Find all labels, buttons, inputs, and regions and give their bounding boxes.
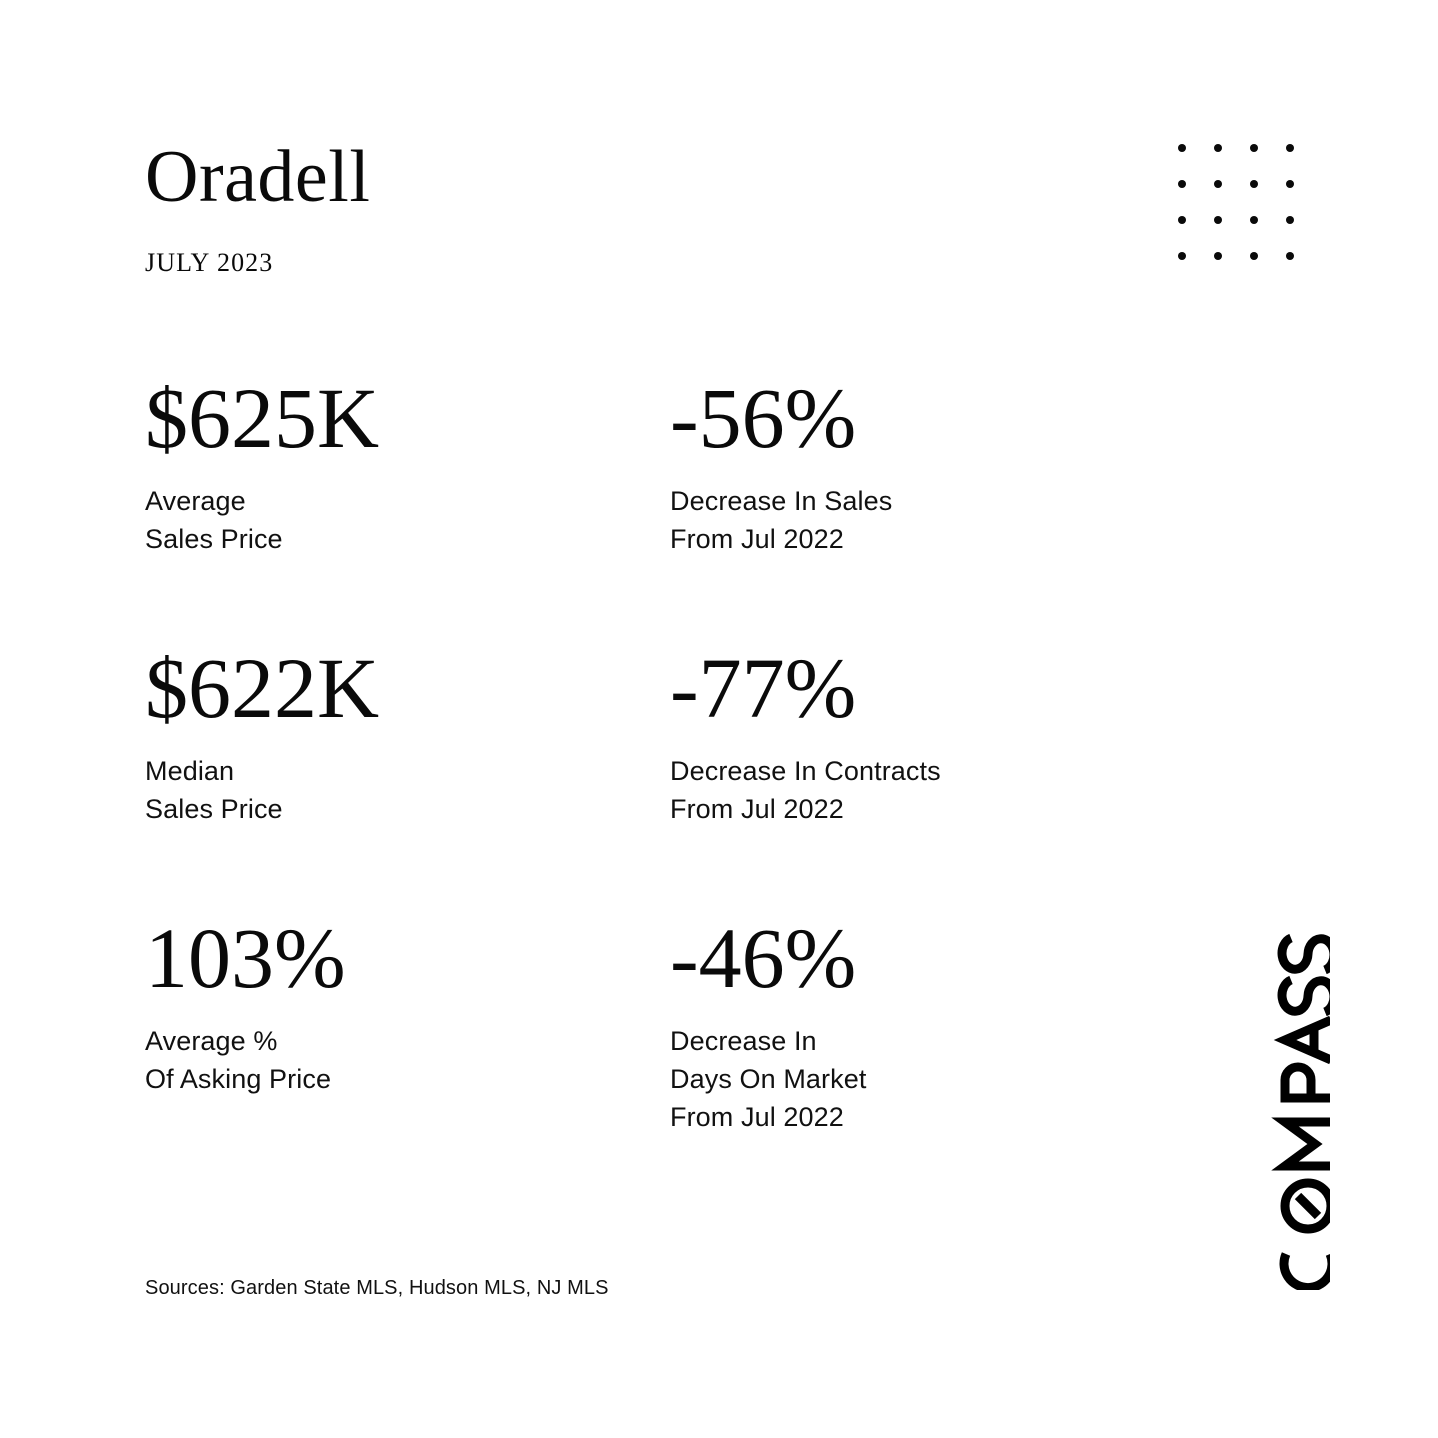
- stat-label-line: Of Asking Price: [145, 1060, 670, 1098]
- grid-dot: [1286, 180, 1294, 188]
- stat-value: -56%: [670, 378, 1145, 460]
- stat-label: Decrease In Contracts From Jul 2022: [670, 752, 1145, 828]
- grid-dot: [1178, 180, 1186, 188]
- grid-dot: [1214, 144, 1222, 152]
- grid-dot: [1286, 144, 1294, 152]
- grid-dot: [1214, 216, 1222, 224]
- market-report-card: Oradell JULY 2023 $625K Average Sales Pr…: [0, 0, 1438, 1438]
- grid-dot: [1178, 144, 1186, 152]
- stat-average-percent-of-asking-price: 103% Average % Of Asking Price: [145, 918, 670, 1188]
- report-period: JULY 2023: [145, 250, 370, 276]
- grid-dot: [1178, 216, 1186, 224]
- grid-dot: [1250, 252, 1258, 260]
- grid-dot: [1250, 216, 1258, 224]
- stat-label: Decrease In Sales From Jul 2022: [670, 482, 1145, 558]
- dot-grid-icon: [1178, 144, 1322, 288]
- stat-value: 103%: [145, 918, 670, 1000]
- stat-value: $625K: [145, 378, 670, 460]
- compass-wordmark-icon: [1264, 930, 1330, 1290]
- grid-dot: [1286, 252, 1294, 260]
- sources-note: Sources: Garden State MLS, Hudson MLS, N…: [145, 1275, 609, 1301]
- page-title: Oradell: [145, 140, 370, 214]
- header: Oradell JULY 2023: [145, 140, 370, 276]
- stat-label: Average Sales Price: [145, 482, 670, 558]
- stat-label-line: From Jul 2022: [670, 790, 1145, 828]
- stat-label-line: Days On Market: [670, 1060, 1145, 1098]
- stat-label: Average % Of Asking Price: [145, 1022, 670, 1098]
- stat-label-line: Sales Price: [145, 520, 670, 558]
- grid-dot: [1286, 216, 1294, 224]
- stat-decrease-in-sales: -56% Decrease In Sales From Jul 2022: [670, 378, 1145, 648]
- stat-label-line: Average %: [145, 1022, 670, 1060]
- stat-label-line: From Jul 2022: [670, 520, 1145, 558]
- grid-dot: [1250, 180, 1258, 188]
- grid-dot: [1214, 252, 1222, 260]
- stat-label-line: Sales Price: [145, 790, 670, 828]
- stat-label: Median Sales Price: [145, 752, 670, 828]
- grid-dot: [1214, 180, 1222, 188]
- stat-label-line: Median: [145, 752, 670, 790]
- stat-decrease-in-contracts: -77% Decrease In Contracts From Jul 2022: [670, 648, 1145, 918]
- stats-grid: $625K Average Sales Price -56% Decrease …: [145, 378, 1145, 1188]
- stat-value: -77%: [670, 648, 1145, 730]
- stat-median-sales-price: $622K Median Sales Price: [145, 648, 670, 918]
- stat-label-line: Decrease In: [670, 1022, 1145, 1060]
- stat-label-line: Decrease In Contracts: [670, 752, 1145, 790]
- grid-dot: [1178, 252, 1186, 260]
- stat-value: $622K: [145, 648, 670, 730]
- stat-label-line: From Jul 2022: [670, 1098, 1145, 1136]
- stat-label-line: Decrease In Sales: [670, 482, 1145, 520]
- grid-dot: [1250, 144, 1258, 152]
- stat-decrease-in-days-on-market: -46% Decrease In Days On Market From Jul…: [670, 918, 1145, 1188]
- stat-label: Decrease In Days On Market From Jul 2022: [670, 1022, 1145, 1136]
- stat-label-line: Average: [145, 482, 670, 520]
- stat-value: -46%: [670, 918, 1145, 1000]
- stat-average-sales-price: $625K Average Sales Price: [145, 378, 670, 648]
